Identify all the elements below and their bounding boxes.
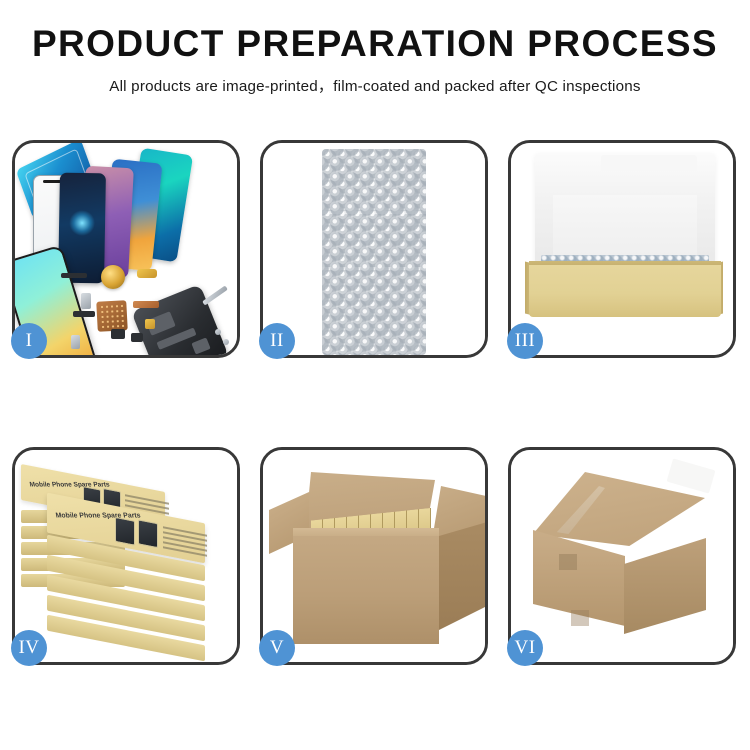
step-badge-5: V [259, 630, 295, 666]
step-badge-4: IV [11, 630, 47, 666]
carton-side-panel [439, 522, 485, 630]
bubble-wrap-seam-1 [322, 211, 426, 214]
step-badge-3: III [507, 323, 543, 359]
step-panel-1: I [12, 140, 240, 358]
camera-module [111, 329, 125, 339]
step-panel-2: II [260, 140, 488, 358]
step-image-6 [511, 450, 733, 662]
carton-front-panel [293, 536, 439, 644]
earpiece-mesh [61, 273, 87, 278]
steps-grid: I II [12, 140, 738, 685]
speaker-component [101, 265, 125, 289]
flex-cable-2 [73, 311, 95, 317]
tweezers-tool [202, 285, 228, 305]
step-panel-3: III [508, 140, 736, 358]
flex-cable-1 [137, 269, 157, 278]
step-badge-1: I [11, 323, 47, 359]
step-image-1 [15, 143, 237, 355]
carton-tape-overhang [667, 458, 716, 493]
carton-seam-patch-2 [571, 610, 589, 626]
step-image-4: Mobile Phone Spare Parts Mobile Phone Sp… [15, 450, 237, 662]
screw-2 [223, 339, 229, 345]
box-lid-flap [535, 153, 715, 271]
screw-1 [215, 329, 221, 335]
step-badge-6: VI [507, 630, 543, 666]
step-panel-5: V [260, 447, 488, 665]
bubble-wrap-seam-2 [322, 267, 426, 270]
step-badge-2: II [259, 323, 295, 359]
header: PRODUCT PREPARATION PROCESS All products… [0, 24, 750, 96]
carton-seam-patch-1 [559, 554, 577, 570]
box-stack: Mobile Phone Spare Parts Mobile Phone Sp… [21, 464, 233, 654]
product-preparation-infographic: PRODUCT PREPARATION PROCESS All products… [0, 0, 750, 750]
page-title: PRODUCT PREPARATION PROCESS [0, 24, 750, 65]
step-panel-6: VI [508, 447, 736, 665]
box-screen-image-d [138, 519, 158, 548]
step-image-3 [511, 143, 733, 355]
box-screen-image-c [115, 517, 135, 546]
step-panel-4: Mobile Phone Spare Parts Mobile Phone Sp… [12, 447, 240, 665]
kraft-box-base [529, 265, 721, 317]
box-brand-text-rear: Mobile Phone Spare Parts [29, 481, 110, 488]
screw-set [145, 319, 155, 329]
lid-tab [601, 155, 697, 171]
sim-tray [71, 335, 80, 349]
chip-grid-component [96, 300, 128, 332]
step-image-2 [263, 143, 485, 355]
vibration-motor [131, 333, 143, 342]
sealed-carton-side [624, 538, 706, 634]
flex-cable-3 [133, 301, 159, 308]
metal-bracket [81, 293, 91, 309]
page-subtitle: All products are image-printed，film-coat… [0, 74, 750, 96]
bubble-wrap-pouch [322, 149, 426, 355]
step-image-5 [263, 450, 485, 662]
